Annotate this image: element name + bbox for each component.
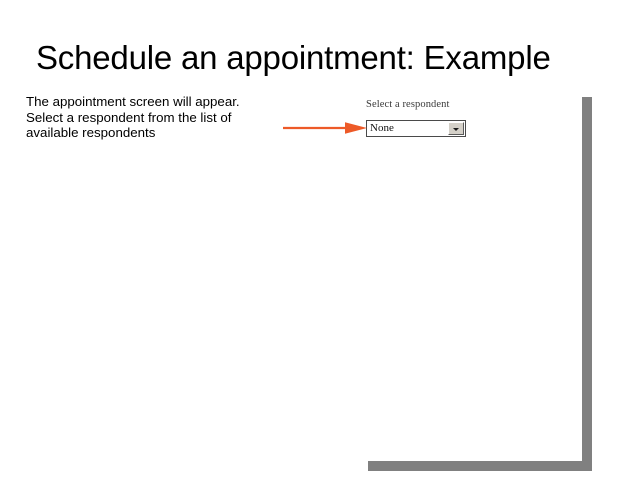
frame-shadow-vertical xyxy=(582,97,592,462)
frame-shadow-horizontal xyxy=(368,461,592,471)
respondent-field-label: Select a respondent xyxy=(366,99,450,110)
right-arrow-icon xyxy=(283,121,367,135)
chevron-down-glyph xyxy=(453,128,459,131)
arrow-head xyxy=(345,122,367,134)
respondent-dropdown-value: None xyxy=(367,121,448,136)
chevron-down-icon[interactable] xyxy=(448,122,464,135)
body-paragraph: The appointment screen will appear. Sele… xyxy=(26,94,256,141)
slide-canvas: Schedule an appointment: Example The app… xyxy=(0,0,640,480)
respondent-dropdown[interactable]: None xyxy=(366,120,466,137)
page-title: Schedule an appointment: Example xyxy=(36,39,551,77)
